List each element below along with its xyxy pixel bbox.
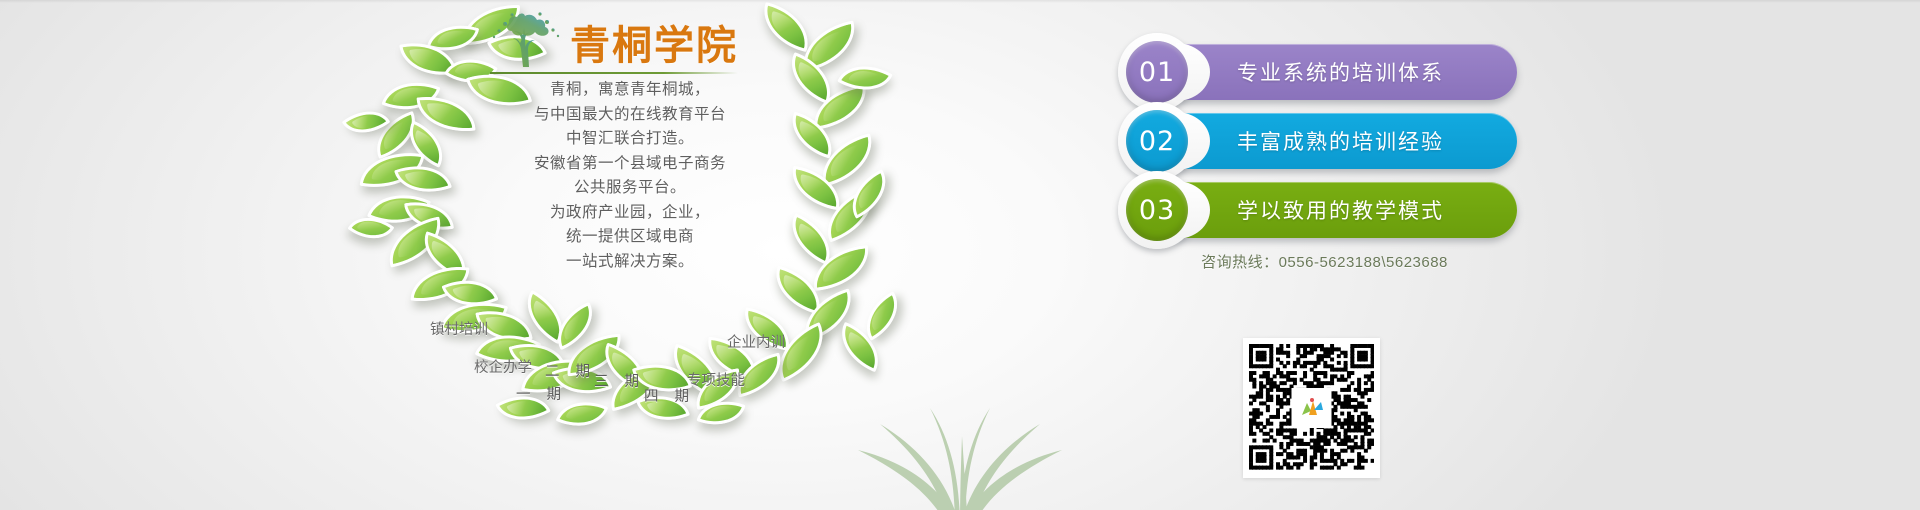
stage-label: 一 期 [516,383,567,404]
intro-line: 一站式解决方案。 [480,250,780,275]
badge-label: 学以致用的教学模式 [1237,195,1444,225]
badge-label: 丰富成熟的培训经验 [1237,126,1444,156]
stage-label: 校企办学 [474,356,532,377]
intro-paragraph: 青桐，寓意青年桐城，与中国最大的在线教育平台中智汇联合打造。安徽省第一个县域电子… [480,78,780,274]
badge-number: 03 [1126,179,1188,241]
feature-badge-01[interactable]: 01专业系统的培训体系 [1132,44,1517,100]
brand-title: 青桐学院 [570,24,738,68]
feature-badge-02[interactable]: 02丰富成熟的培训经验 [1132,113,1517,169]
stage-label: 专项技能 [687,369,745,390]
stage-label: 三 期 [594,370,645,391]
leaf-decoration [0,0,1920,510]
intro-line: 为政府产业园，企业， [480,201,780,226]
brand-mark-icon [1295,391,1329,425]
badge-number: 01 [1126,41,1188,103]
intro-line: 公共服务平台。 [480,176,780,201]
intro-line: 青桐，寓意青年桐城， [480,78,780,103]
badge-label: 专业系统的培训体系 [1237,57,1444,87]
stage-label: 镇村培训 [430,318,488,339]
banner-canvas: 青桐学院 青桐，寓意青年桐城，与中国最大的在线教育平台中智汇联合打造。安徽省第一… [0,0,1920,510]
hotline-text: 咨询热线：0556-5623188\5623688 [1132,251,1517,272]
tree-icon [490,10,562,68]
intro-line: 统一提供区域电商 [480,225,780,250]
feature-badge-03[interactable]: 03学以致用的教学模式 [1132,182,1517,238]
stage-label: 企业内训 [727,331,785,352]
stage-label: 二 期 [545,360,596,381]
intro-line: 安徽省第一个县域电子商务 [480,152,780,177]
intro-line: 中智汇联合打造。 [480,127,780,152]
intro-line: 与中国最大的在线教育平台 [480,103,780,128]
feature-badge-list: 01专业系统的培训体系02丰富成熟的培训经验03学以致用的教学模式 [1132,44,1517,251]
qr-code[interactable] [1243,338,1380,478]
brand-underline [490,72,738,74]
badge-number: 02 [1126,110,1188,172]
brand-block: 青桐学院 [490,8,770,74]
